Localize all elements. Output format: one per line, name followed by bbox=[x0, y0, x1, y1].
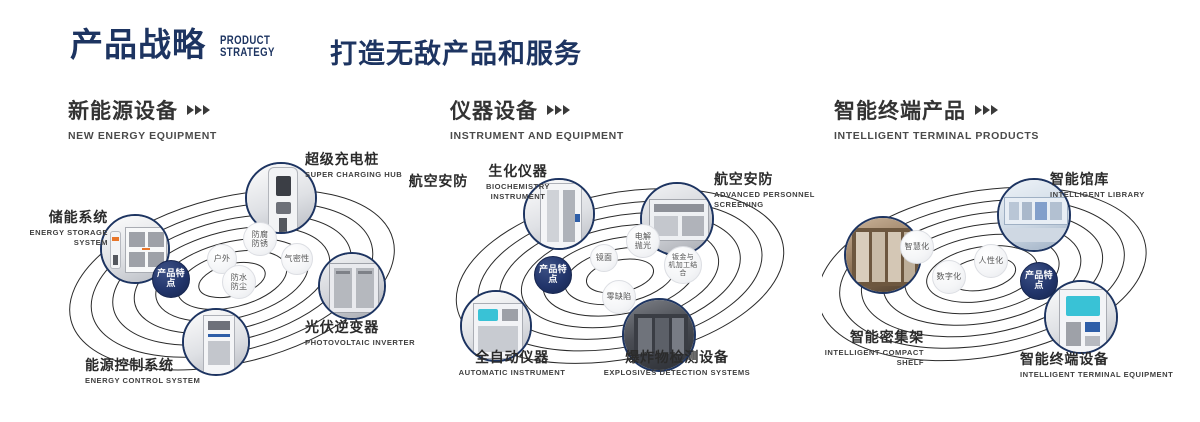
caption-en: PHOTOVOLTAIC INVERTER bbox=[305, 338, 455, 347]
caption-en: ENERGY STORAGE SYSTEM bbox=[0, 228, 108, 247]
caption-cn: 生化仪器 bbox=[470, 164, 566, 180]
caption-intelligent-terminal-equipment: 智能终端设备 INTELLIGENT TERMINAL EQUIPMENT bbox=[1020, 352, 1200, 380]
caption-energy-control-system: 能源控制系统 ENERGY CONTROL SYSTEM bbox=[85, 358, 255, 386]
feature-label: 钣金与 机加工结合 bbox=[667, 253, 699, 277]
section-title-cn: 新能源设备 bbox=[68, 95, 178, 125]
feature-core-label: 产品特点 bbox=[537, 265, 569, 286]
feature-bubble-airtight[interactable]: 气密性 bbox=[281, 243, 313, 275]
feature-label: 镜面 bbox=[596, 253, 613, 262]
feature-label: 户外 bbox=[214, 254, 231, 263]
caption-cn: 光伏逆变器 bbox=[305, 320, 455, 336]
node-photo-photovoltaic-inverter[interactable] bbox=[318, 252, 386, 320]
feature-bubble-mirror[interactable]: 镜面 bbox=[590, 244, 618, 272]
caption-energy-storage: 储能系统 ENERGY STORAGE SYSTEM bbox=[0, 210, 108, 247]
feature-label: 防腐 防锈 bbox=[252, 230, 269, 248]
caption-en: INTELLIGENT COMPACT SHELF bbox=[794, 348, 924, 367]
caption-intelligent-library: 智能馆库 INTELLIGENT LIBRARY bbox=[1050, 172, 1190, 200]
page-title-cn: 产品战略 bbox=[70, 28, 206, 61]
chevron-right-icon bbox=[547, 105, 570, 115]
feature-core-bubble[interactable]: 产品特点 bbox=[534, 256, 572, 294]
caption-automatic-instrument: 全自动仪器 AUTOMATIC INSTRUMENT bbox=[437, 350, 587, 378]
chevron-right-icon bbox=[187, 105, 210, 115]
caption-cn: 全自动仪器 bbox=[437, 350, 587, 366]
caption-en: INTELLIGENT LIBRARY bbox=[1050, 190, 1190, 199]
caption-en: BIOCHEMISTRY INSTRUMENT bbox=[470, 182, 566, 201]
caption-photovoltaic-inverter: 光伏逆变器 PHOTOVOLTAIC INVERTER bbox=[305, 320, 455, 348]
feature-core-bubble[interactable]: 产品特点 bbox=[152, 260, 190, 298]
caption-en: EXPLOSIVES DETECTION SYSTEMS bbox=[582, 368, 772, 377]
caption-biochemistry-instrument: 生化仪器 BIOCHEMISTRY INSTRUMENT bbox=[470, 164, 566, 201]
feature-label: 人性化 bbox=[979, 256, 1004, 265]
feature-bubble-electropolish[interactable]: 电解 抛光 bbox=[626, 224, 660, 258]
section-title-cn: 智能终端产品 bbox=[834, 95, 966, 125]
caption-en: INTELLIGENT TERMINAL EQUIPMENT bbox=[1020, 370, 1200, 379]
feature-bubble-sheetmetal-machining[interactable]: 钣金与 机加工结合 bbox=[664, 246, 702, 284]
caption-cn: 智能馆库 bbox=[1050, 172, 1190, 188]
feature-label: 气密性 bbox=[285, 254, 310, 263]
feature-label: 电解 抛光 bbox=[635, 232, 652, 250]
caption-cn: 储能系统 bbox=[0, 210, 108, 226]
feature-bubble-intelligent[interactable]: 智慧化 bbox=[900, 230, 934, 264]
section-heading-instrument: 仪器设备 INSTRUMENT AND EQUIPMENT bbox=[450, 95, 624, 142]
poster-canvas: 产品战略 PRODUCT STRATEGY 打造无敌产品和服务 新能源设备 NE… bbox=[0, 0, 1200, 422]
caption-intelligent-compact-shelf: 智能密集架 INTELLIGENT COMPACT SHELF bbox=[794, 330, 924, 367]
page-title-en: PRODUCT STRATEGY bbox=[220, 34, 275, 61]
diagram-group-intelligent-terminal: 智慧化 数字化 人性化 产品特点 智能馆库 INTELLIGENT LIBRAR… bbox=[822, 150, 1200, 410]
page-subtitle: 打造无敌产品和服务 bbox=[330, 32, 582, 71]
caption-en: ADVANCED PERSONNEL SCREENING bbox=[714, 190, 834, 209]
caption-cn: 超级充电桩 bbox=[305, 152, 445, 168]
chevron-right-icon bbox=[975, 105, 998, 115]
feature-label: 零缺陷 bbox=[607, 292, 632, 301]
feature-label: 智慧化 bbox=[905, 242, 930, 251]
feature-core-bubble[interactable]: 产品特点 bbox=[1020, 262, 1058, 300]
feature-core-label: 产品特点 bbox=[1023, 271, 1055, 292]
caption-cn: 能源控制系统 bbox=[85, 358, 255, 374]
caption-cn: 智能密集架 bbox=[794, 330, 924, 346]
feature-bubble-zero-defect[interactable]: 零缺陷 bbox=[602, 280, 636, 314]
feature-bubble-humanized[interactable]: 人性化 bbox=[974, 244, 1008, 278]
section-heading-intelligent-terminal: 智能终端产品 INTELLIGENT TERMINAL PRODUCTS bbox=[834, 95, 1039, 142]
caption-cn: 智能终端设备 bbox=[1020, 352, 1200, 368]
caption-aviation-security: 航空安防 bbox=[392, 174, 468, 190]
caption-cn: 航空安防 bbox=[392, 174, 468, 190]
caption-cn: 爆炸物检测设备 bbox=[582, 350, 772, 366]
section-heading-new-energy: 新能源设备 NEW ENERGY EQUIPMENT bbox=[68, 95, 217, 142]
feature-label: 数字化 bbox=[937, 272, 962, 281]
caption-cn: 航空安防 bbox=[714, 172, 834, 188]
diagram-group-instrument: 产品特点 镜面 电解 抛光 钣金与 机加工结合 零缺陷 生化仪器 BIOCHEM… bbox=[442, 150, 842, 410]
feature-bubble-waterproof[interactable]: 防水 防尘 bbox=[222, 265, 256, 299]
section-title-en: INSTRUMENT AND EQUIPMENT bbox=[450, 130, 624, 142]
caption-en: ENERGY CONTROL SYSTEM bbox=[85, 376, 255, 385]
section-title-cn: 仪器设备 bbox=[450, 95, 538, 125]
section-title-en: NEW ENERGY EQUIPMENT bbox=[68, 130, 217, 142]
feature-core-label: 产品特点 bbox=[155, 269, 187, 290]
caption-en: AUTOMATIC INSTRUMENT bbox=[437, 368, 587, 377]
feature-label: 防水 防尘 bbox=[231, 273, 248, 291]
poster-header: 产品战略 PRODUCT STRATEGY bbox=[70, 28, 288, 61]
caption-advanced-personnel-screening: 航空安防 ADVANCED PERSONNEL SCREENING bbox=[714, 172, 834, 209]
feature-bubble-digital[interactable]: 数字化 bbox=[932, 260, 966, 294]
feature-bubble-anticorrosion[interactable]: 防腐 防锈 bbox=[243, 222, 277, 256]
caption-explosives-detection: 爆炸物检测设备 EXPLOSIVES DETECTION SYSTEMS bbox=[582, 350, 772, 378]
section-title-en: INTELLIGENT TERMINAL PRODUCTS bbox=[834, 130, 1039, 142]
